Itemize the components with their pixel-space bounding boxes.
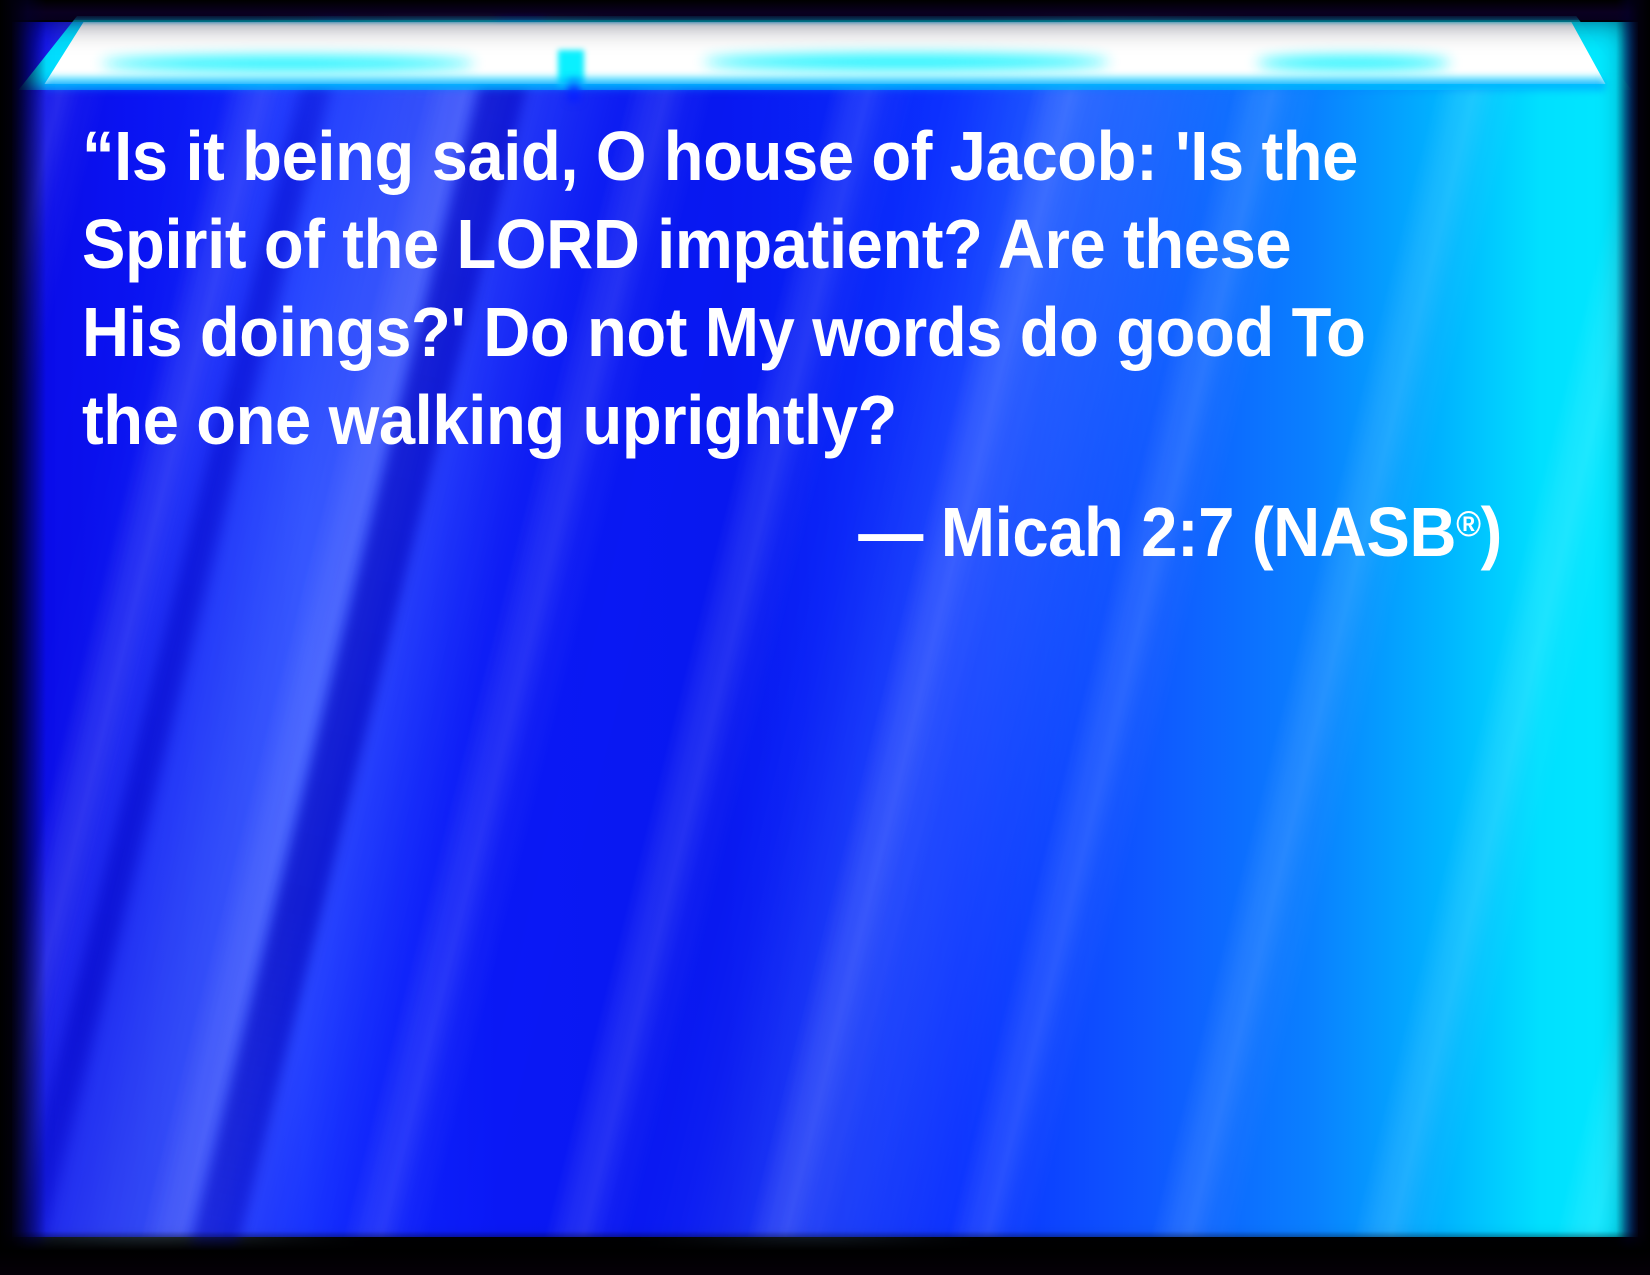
registered-trademark-icon: ® (1456, 503, 1481, 544)
citation-translation-close: ) (1481, 493, 1502, 571)
citation-reference: Micah 2:7 (941, 493, 1234, 571)
citation-translation-open: (NASB (1252, 493, 1456, 571)
top-band-notch-tail (568, 80, 580, 102)
left-border (0, 0, 46, 1275)
verse-text: “Is it being said, O house of Jacob: 'Is… (82, 112, 1403, 464)
bottom-border (0, 1231, 1650, 1275)
top-band-cyan-blob-left (101, 56, 475, 71)
right-border (1616, 0, 1650, 1275)
top-band-cyan-notch (558, 50, 584, 86)
top-border (0, 0, 1650, 20)
citation-dash: — (858, 493, 923, 571)
top-band-white-fill (12, 22, 1638, 84)
verse-citation: — Micah 2:7 (NASB®) (181, 480, 1502, 576)
top-band-cyan-blob-right (1256, 56, 1451, 70)
top-highlight-band (12, 20, 1638, 86)
verse-block: “Is it being said, O house of Jacob: 'Is… (82, 112, 1502, 576)
top-band-cyan-blob-center (703, 54, 1110, 70)
top-band-underglow (45, 78, 1606, 92)
verse-slide: “Is it being said, O house of Jacob: 'Is… (0, 0, 1650, 1275)
top-band-cyan-glow (12, 16, 1638, 90)
